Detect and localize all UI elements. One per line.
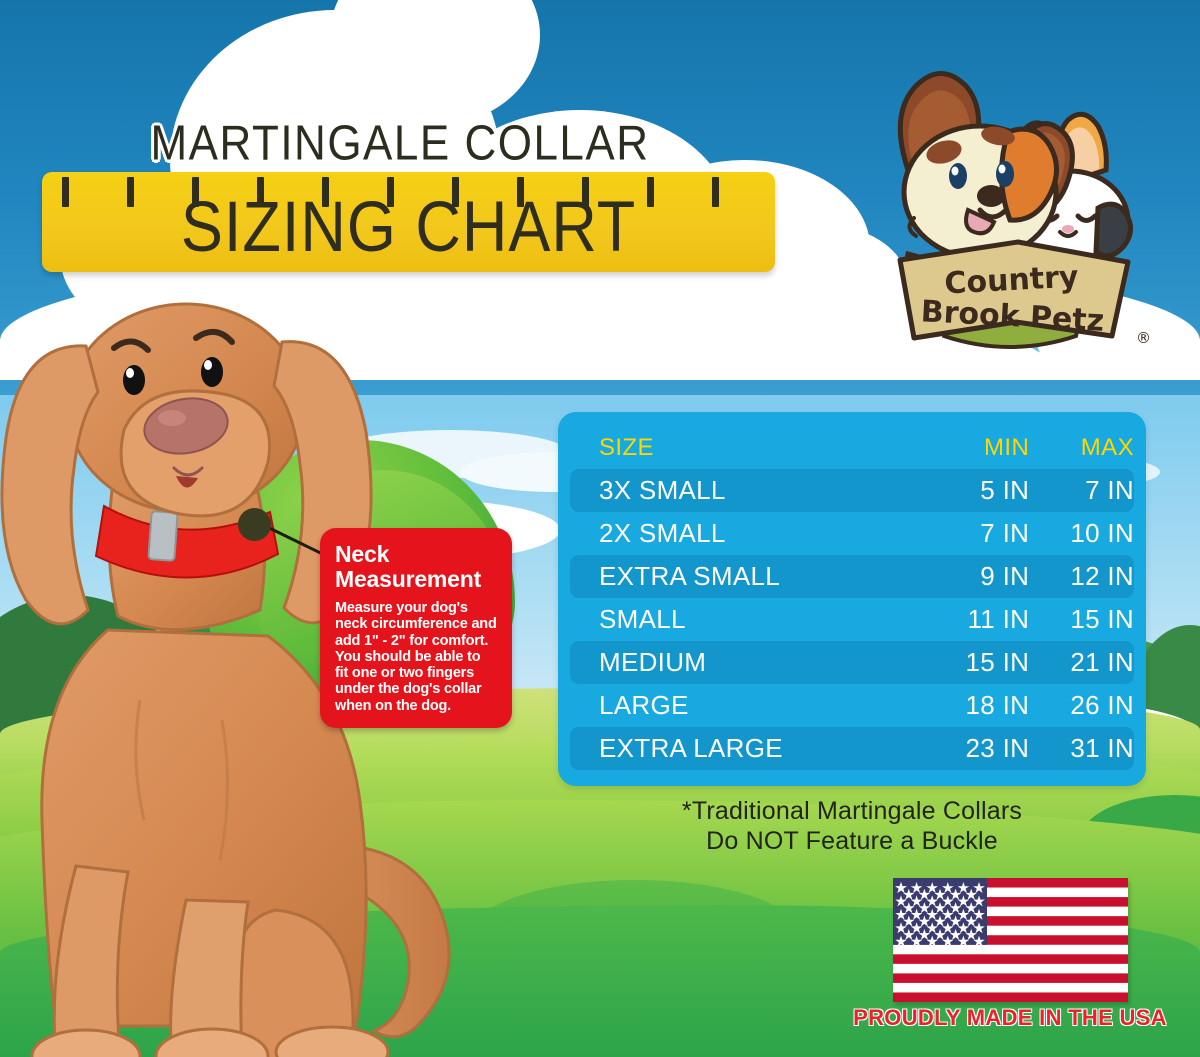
cell-min: 7 IN [899,518,1029,549]
table-row[interactable]: LARGE 18 IN 26 IN [570,684,1134,727]
sizing-chart-banner: SIZING CHART [42,172,775,272]
table-row[interactable]: MEDIUM 15 IN 21 IN [570,641,1134,684]
cell-max: 26 IN [1029,690,1134,721]
table-row[interactable]: EXTRA SMALL 9 IN 12 IN [570,555,1134,598]
neck-measurement-callout: Neck Measurement Measure your dog's neck… [320,528,512,728]
registered-mark: ® [1136,329,1151,347]
page-title: SIZING CHART [42,186,775,268]
cell-max: 12 IN [1029,561,1134,592]
footnote-line-2: Do NOT Feature a Buckle [558,826,1146,856]
cell-min: 9 IN [899,561,1029,592]
cell-max: 15 IN [1029,604,1134,635]
cell-min: 5 IN [899,475,1029,506]
cell-min: 23 IN [899,733,1029,764]
cell-max: 21 IN [1029,647,1134,678]
cell-min: 15 IN [899,647,1029,678]
table-row[interactable]: 3X SMALL 5 IN 7 IN [570,469,1134,512]
sizing-chart-infographic: MARTINGALE COLLAR SIZING CHART [0,0,1200,1057]
callout-body: Measure your dog's neck circumference an… [335,600,497,714]
sizing-table: SIZE MIN MAX 3X SMALL 5 IN 7 IN 2X SMALL… [558,412,1146,786]
column-header-max: MAX [1029,434,1134,462]
cell-min: 11 IN [899,604,1029,635]
column-header-size: SIZE [570,434,899,462]
callout-pointer-dot [238,508,271,541]
cell-min: 18 IN [899,690,1029,721]
made-in-usa-label: PROUDLY MADE IN THE USA [830,1005,1190,1031]
cell-size: 3X SMALL [570,475,899,506]
country-brook-petz-logo[interactable]: Country Brook Petz ® [862,58,1154,354]
column-header-min: MIN [899,434,1029,462]
cell-size: MEDIUM [570,647,899,678]
cell-max: 31 IN [1029,733,1134,764]
cell-max: 7 IN [1029,475,1134,506]
callout-heading: Neck Measurement [335,542,497,592]
table-row[interactable]: 2X SMALL 7 IN 10 IN [570,512,1134,555]
page-subtitle: MARTINGALE COLLAR [0,116,800,172]
cell-size: SMALL [570,604,899,635]
buckle-footnote: *Traditional Martingale Collars Do NOT F… [558,796,1146,856]
cell-size: 2X SMALL [570,518,899,549]
logo-line1: Country [944,260,1080,302]
cell-size: EXTRA SMALL [570,561,899,592]
table-header-row: SIZE MIN MAX [570,426,1134,469]
usa-flag-icon [893,878,1128,1002]
cell-size: LARGE [570,690,899,721]
table-row[interactable]: EXTRA LARGE 23 IN 31 IN [570,727,1134,770]
table-row[interactable]: SMALL 11 IN 15 IN [570,598,1134,641]
cell-max: 10 IN [1029,518,1134,549]
cell-size: EXTRA LARGE [570,733,899,764]
footnote-line-1: *Traditional Martingale Collars [558,796,1146,826]
